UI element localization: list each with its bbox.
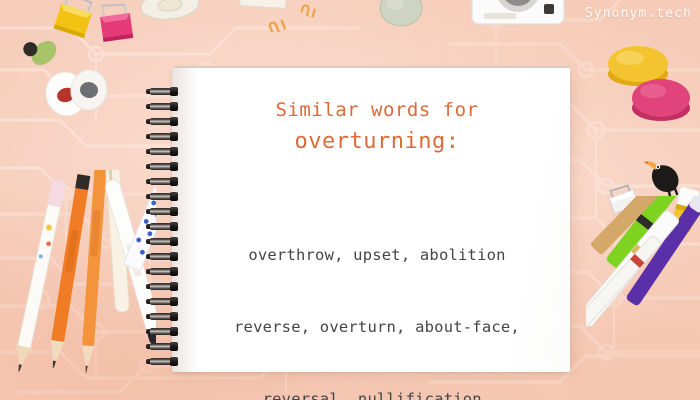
stone-decor: [378, 0, 424, 28]
binder-clip-pink: [93, 0, 138, 47]
card-headword: overturning:: [196, 127, 558, 157]
site-watermark: Synonym.tech: [585, 6, 692, 21]
macaron-pink: [630, 76, 692, 122]
pencils-and-pens-group: [6, 170, 156, 400]
camera: [470, 0, 566, 32]
screenshot-canvas: Similar words for overturning: overthrow…: [0, 0, 700, 400]
synonym-line: overthrow, upset, abolition: [196, 243, 558, 267]
synonym-word-list: overthrow, upset, abolition reverse, ove…: [196, 195, 558, 400]
synonym-line: reversal, nullification,: [196, 387, 558, 400]
synonym-card-content: Similar words for overturning: overthrow…: [196, 68, 558, 372]
card-title-prefix: Similar words for: [196, 95, 558, 125]
markers-group: [586, 196, 700, 400]
egg-erasers: [42, 66, 108, 118]
synonym-line: reverse, overturn, about-face,: [196, 315, 558, 339]
